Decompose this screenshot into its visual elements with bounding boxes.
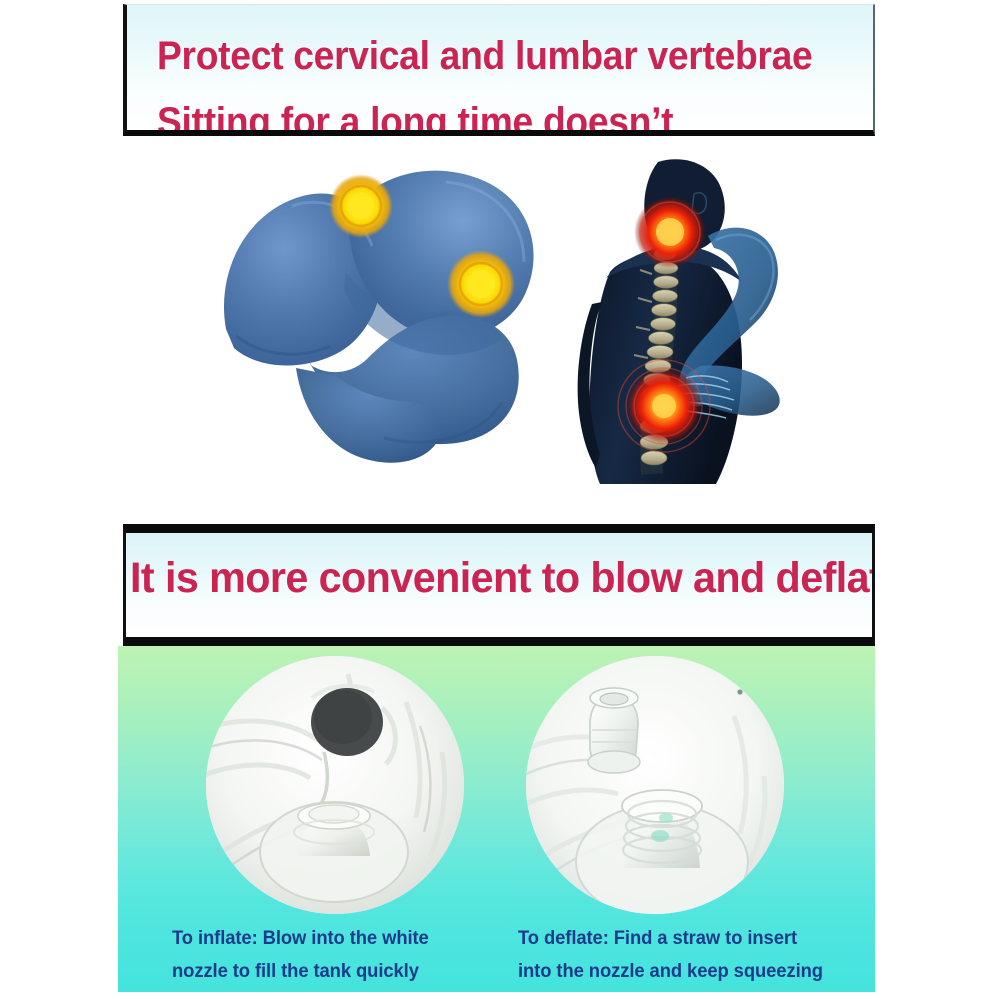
deflate-nozzle-illustration — [526, 656, 784, 914]
valve-opening — [311, 688, 383, 756]
inflate-caption: To inflate: Blow into the white nozzle t… — [172, 922, 429, 988]
product-showcase-section — [0, 140, 1000, 510]
inflate-nozzle-illustration — [206, 656, 464, 914]
inflate-caption-line-1: To inflate: Blow into the white — [172, 922, 429, 955]
pain-point-lower-back — [618, 360, 710, 452]
neck-pillow-illustration — [196, 154, 552, 484]
deflate-nozzle-photo — [526, 656, 784, 914]
pain-point-neck — [634, 196, 706, 268]
deflate-caption-line-2: into the nozzle and keep squeezing — [518, 955, 823, 988]
top-headline-text: Protect cervical and lumbar vertebrae Si… — [157, 7, 812, 136]
second-headline-banner: It is more convenient to blow and deflat… — [123, 524, 875, 646]
neck-pillow-image — [196, 154, 552, 484]
second-headline-text: It is more convenient to blow and deflat… — [130, 553, 875, 603]
inflate-nozzle-photo — [206, 656, 464, 914]
deflate-caption: To deflate: Find a straw to insert into … — [518, 922, 823, 988]
top-headline-banner: Protect cervical and lumbar vertebrae Si… — [123, 4, 875, 136]
pillow-pressure-point-upper — [329, 174, 393, 238]
inflate-caption-line-2: nozzle to fill the tank quickly — [172, 955, 429, 988]
top-headline-line-1: Protect cervical and lumbar vertebrae — [157, 40, 812, 73]
spine-anatomy-illustration — [566, 154, 802, 484]
top-headline-line-2: Sitting for a long time doesn’t — [157, 106, 812, 136]
pillow-pressure-point-lower — [447, 250, 515, 318]
deflate-caption-line-1: To deflate: Find a straw to insert — [518, 922, 823, 955]
inflate-deflate-panel: To inflate: Blow into the white nozzle t… — [118, 646, 875, 992]
spine-anatomy-image — [566, 154, 802, 484]
secondary-valve-tube — [588, 688, 640, 773]
